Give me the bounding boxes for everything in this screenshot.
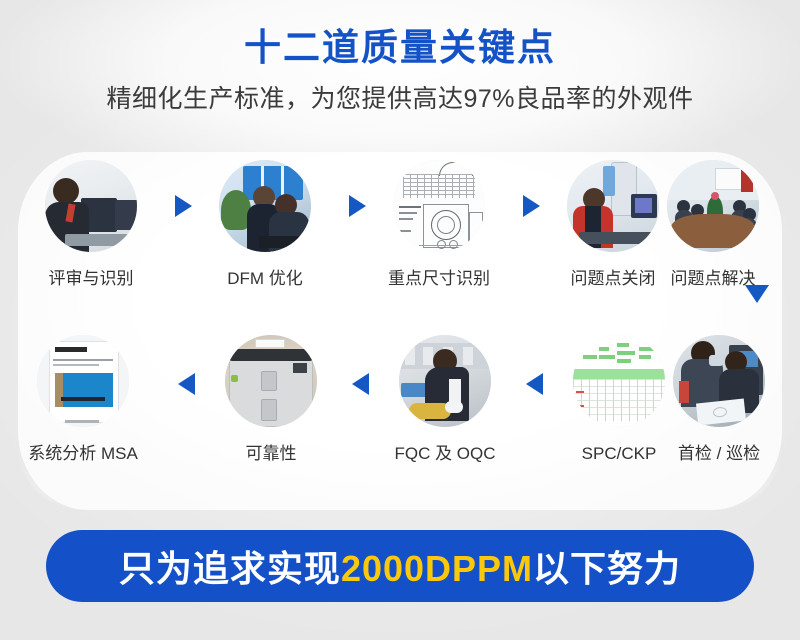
- flow-row-2: 系统分析 MSA 可靠性 FQC 及 OQC: [18, 335, 782, 475]
- reliability-chamber-photo: [225, 335, 317, 427]
- flow-step-label: 重点尺寸识别: [384, 268, 494, 290]
- flow-step-issue-resolve[interactable]: 问题点解决: [658, 160, 768, 290]
- meeting-room-photo: [667, 160, 759, 252]
- flow-step-label: FQC 及 OQC: [390, 443, 500, 465]
- flow-step-dfm[interactable]: DFM 优化: [210, 160, 320, 290]
- flow-step-first-patrol-inspection[interactable]: 首检 / 巡检: [664, 335, 774, 465]
- flow-step-label: 首检 / 巡检: [664, 443, 774, 465]
- flow-step-msa[interactable]: 系统分析 MSA: [28, 335, 138, 465]
- arrow-down-icon: [745, 285, 769, 303]
- page-title: 十二道质量关键点: [0, 26, 800, 70]
- fqc-inspector-photo: [399, 335, 491, 427]
- page-subtitle: 精细化生产标准，为您提供高达97%良品率的外观件: [0, 84, 800, 114]
- flow-step-label: 可靠性: [216, 443, 326, 465]
- office-review-photo: [45, 160, 137, 252]
- banner-suffix: 以下努力: [533, 548, 681, 589]
- arrow-right-icon: [349, 195, 366, 217]
- spc-control-chart: [573, 335, 665, 427]
- flow-step-key-dimension[interactable]: 重点尺寸识别: [384, 160, 494, 290]
- arrow-right-icon: [175, 195, 192, 217]
- flow-step-label: DFM 优化: [210, 268, 320, 290]
- test-report-document: [37, 335, 129, 427]
- arrow-left-icon: [526, 373, 543, 395]
- header: 十二道质量关键点 精细化生产标准，为您提供高达97%良品率的外观件: [0, 0, 800, 114]
- flow-step-label: 评审与识别: [36, 268, 146, 290]
- flow-step-label: 问题点关闭: [558, 268, 668, 290]
- flow-step-fqc-oqc[interactable]: FQC 及 OQC: [390, 335, 500, 465]
- arrow-left-icon: [178, 373, 195, 395]
- bottom-banner: 只为追求实现2000DPPM以下努力: [46, 530, 754, 602]
- dfm-meeting-photo: [219, 160, 311, 252]
- flow-step-reliability[interactable]: 可靠性: [216, 335, 326, 465]
- flow-step-issue-close[interactable]: 问题点关闭: [558, 160, 668, 290]
- cmm-measurement-photo: [567, 160, 659, 252]
- first-article-inspection-photo: [673, 335, 765, 427]
- flow-step-label: 系统分析 MSA: [28, 443, 138, 465]
- arrow-right-icon: [523, 195, 540, 217]
- flow-row-1: 评审与识别 DFM 优化 重点尺寸识别: [18, 160, 782, 300]
- arrow-left-icon: [352, 373, 369, 395]
- banner-prefix: 只为追求实现: [119, 548, 341, 589]
- banner-text: 只为追求实现2000DPPM以下努力: [119, 540, 681, 592]
- flow-step-label: SPC/CKP: [564, 443, 674, 465]
- flow-step-spc-ckp[interactable]: SPC/CKP: [564, 335, 674, 465]
- banner-highlight-value: 2000DPPM: [341, 548, 533, 589]
- cad-drawing-image: [393, 160, 485, 252]
- flow-step-review[interactable]: 评审与识别: [36, 160, 146, 290]
